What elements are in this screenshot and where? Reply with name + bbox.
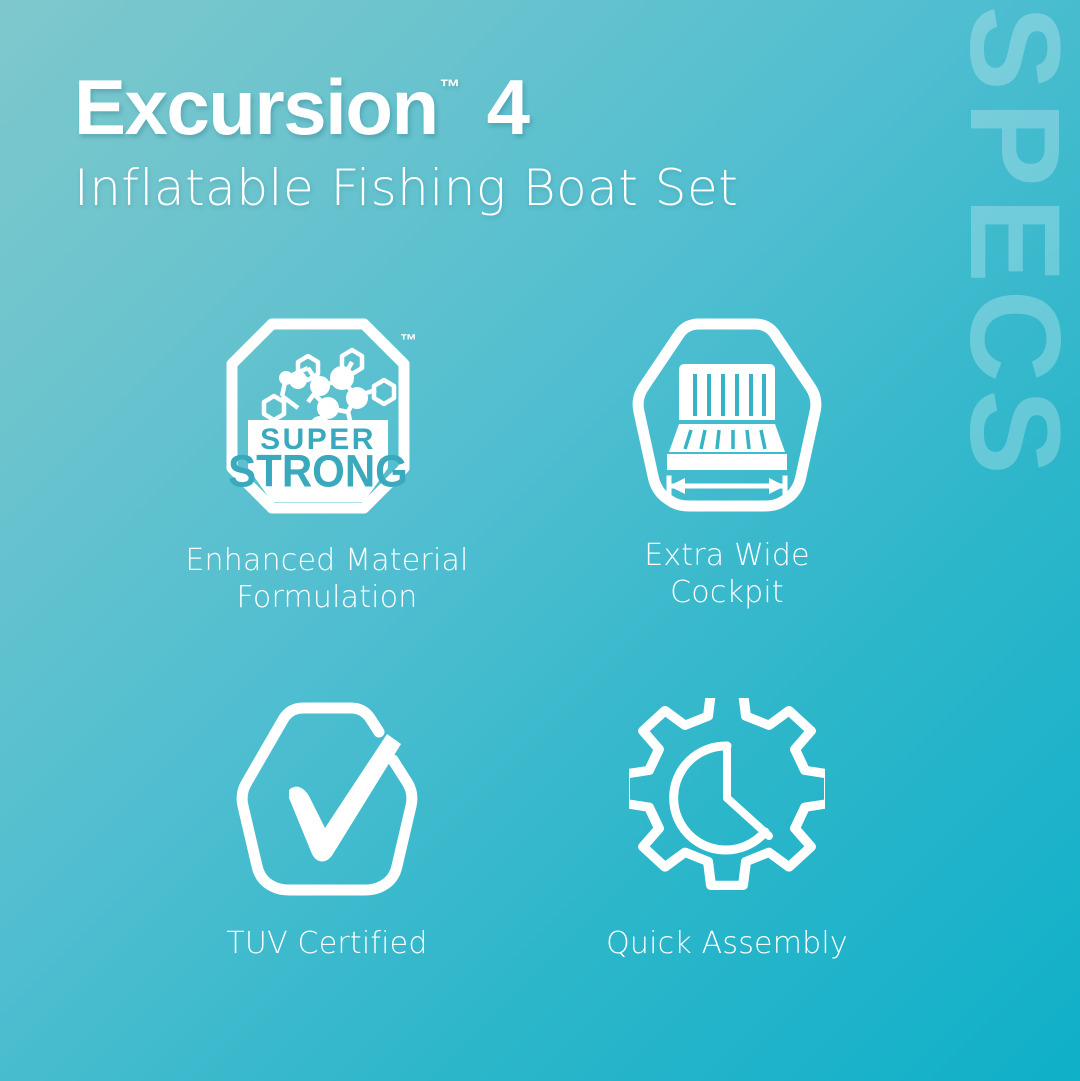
feature-label: Quick Assembly	[606, 926, 848, 963]
watermark-letter: S	[968, 0, 1064, 113]
tuv-certified-checkmark-icon	[229, 700, 425, 896]
feature-item-tuv-certified: TUV Certified	[127, 700, 527, 980]
watermark-letter: E	[968, 175, 1064, 305]
feature-label: TUV Certified	[226, 926, 427, 963]
feature-item-quick-assembly: Quick Assembly	[527, 700, 927, 980]
super-strong-badge-icon: ™ SUPER STRONG	[224, 318, 430, 514]
feature-row: ™ SUPER STRONG Enhanced Material Formula…	[0, 318, 1000, 618]
feature-item-enhanced-material: ™ SUPER STRONG Enhanced Material Formula…	[127, 318, 527, 618]
poster-header: Excursion ™ 4 Inflatable Fishing Boat Se…	[74, 68, 894, 215]
badge-line-strong: STRONG	[228, 446, 408, 497]
feature-label: Extra Wide Cockpit	[644, 538, 810, 611]
badge-trademark: ™	[400, 331, 417, 350]
feature-item-extra-wide-cockpit: Extra Wide Cockpit	[527, 318, 927, 618]
feature-row: TUV Certified Quick Assembly	[0, 700, 1000, 980]
trademark-symbol: ™	[440, 76, 461, 100]
feature-label: Enhanced Material Formulation	[185, 543, 468, 616]
product-model-number: 4	[487, 68, 529, 146]
specs-poster: S P E C S Excursion ™ 4 Inflatable Fishi…	[0, 0, 1080, 1081]
page-title: Excursion	[74, 68, 438, 146]
extra-wide-cockpit-icon	[629, 318, 825, 514]
feature-grid: ™ SUPER STRONG Enhanced Material Formula…	[0, 318, 1000, 980]
product-subtitle: Inflatable Fishing Boat Set	[74, 162, 894, 215]
product-title-row: Excursion ™ 4	[74, 68, 894, 146]
watermark-letter: P	[968, 79, 1064, 209]
quick-assembly-gear-clock-icon	[629, 700, 825, 896]
